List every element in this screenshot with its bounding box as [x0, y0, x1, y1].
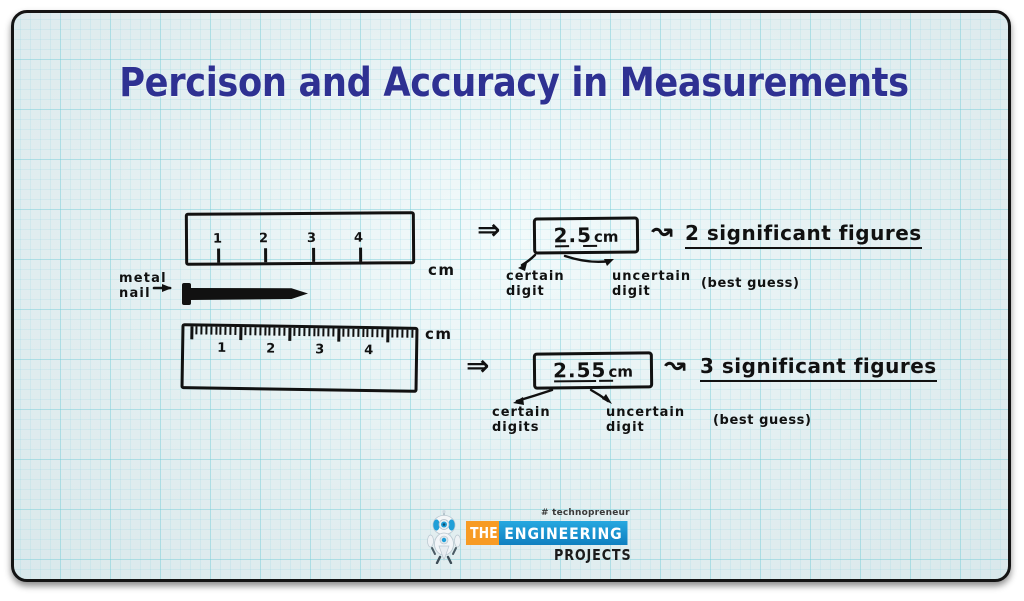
fine-ruler-tick [342, 329, 344, 337]
coarse-ruler: 1 2 3 4 [185, 211, 415, 266]
uncertain-digit-label-1: uncertain digit [612, 269, 691, 299]
metal-nail [182, 283, 312, 307]
coarse-label-3: 3 [307, 231, 316, 246]
certain-digit-underline-1 [555, 245, 569, 247]
fine-ruler-tick [190, 326, 193, 339]
measurement-1-text: 2.5cm [553, 222, 618, 247]
fine-label-1: 1 [217, 341, 226, 356]
fine-ruler-tick [362, 329, 364, 337]
fine-ruler-tick [225, 327, 227, 335]
fine-ruler-tick [259, 327, 261, 335]
coarse-tick-1 [217, 249, 220, 263]
fine-ruler-tick [230, 327, 232, 335]
fine-ruler-tick [367, 329, 369, 337]
uncertain-digit-underline-1 [583, 244, 597, 246]
fine-ruler-tick [396, 330, 398, 338]
measurement-2-text: 2.55cm [553, 357, 633, 382]
fine-ruler-ticks [184, 326, 415, 330]
uncertain-arrow-1-head [604, 259, 614, 266]
coarse-tick-4 [359, 248, 362, 262]
fine-ruler-tick [239, 327, 242, 340]
certain-arrow-2-line [517, 390, 552, 401]
slide-root: Percison and Accuracy in Measurements 1 … [0, 0, 1024, 601]
fine-ruler-tick [337, 329, 340, 342]
fine-ruler-tick [372, 329, 374, 337]
fine-ruler-tick [279, 328, 281, 336]
best-guess-label-1: (best guess) [701, 276, 800, 291]
fine-ruler-tick [244, 327, 246, 335]
fine-ruler-tick [220, 327, 222, 335]
result-text-1: 2 significant figures [685, 221, 922, 249]
logo-word-projects: PROJECTS [554, 546, 631, 564]
fine-ruler-tick [313, 328, 315, 336]
fine-ruler-tick [254, 327, 256, 335]
fine-ruler-tick [303, 328, 305, 336]
fine-ruler-tick [308, 328, 310, 336]
coarse-label-1: 1 [213, 232, 222, 247]
metal-nail-label: metal nail [119, 271, 167, 301]
measurement-box-2: 2.55cm [533, 351, 653, 389]
fine-ruler-tick [234, 327, 236, 335]
fine-ruler-tick [249, 327, 251, 335]
coarse-ruler-unit-label: cm [428, 261, 456, 279]
nail-shaft [190, 288, 308, 300]
fine-label-4: 4 [364, 343, 373, 358]
logo-wordmark: THE ENGINEERING [466, 521, 645, 545]
measurement-1-value: 2.5 [553, 222, 592, 246]
fine-ruler-tick [328, 328, 330, 336]
uncertain-arrow-2-line [591, 390, 608, 401]
measurement-2-value: 2.55 [553, 357, 607, 382]
fine-ruler-tick [401, 330, 403, 338]
squiggle-arrow-2-icon: ↝ [664, 350, 686, 380]
certain-digit-label-1: certain digit [506, 269, 565, 299]
certain-digits-label-2: certain digits [492, 405, 551, 435]
certain-arrow-1-line [522, 255, 535, 265]
uncertain-digit-underline-2 [599, 379, 613, 381]
fine-ruler-tick [288, 328, 291, 341]
measurement-box-1: 2.5cm [533, 216, 639, 254]
certain-arrow-2-head [513, 397, 524, 405]
fine-ruler-tick [318, 328, 320, 336]
fine-ruler-tick [274, 328, 276, 336]
fine-ruler-tick [264, 327, 266, 335]
slide-board: Percison and Accuracy in Measurements 1 … [11, 10, 1011, 582]
fine-ruler-tick [377, 329, 379, 337]
fine-ruler-tick [411, 330, 413, 338]
uncertain-arrow-2-head [602, 394, 612, 404]
fine-ruler-tick [381, 329, 383, 337]
fine-ruler-tick [293, 328, 295, 336]
fine-ruler-unit-label: cm [425, 325, 453, 343]
fine-ruler-tick [352, 329, 354, 337]
fine-ruler-tick [200, 326, 202, 334]
measurement-2-unit: cm [608, 362, 633, 380]
best-guess-label-2: (best guess) [713, 413, 812, 428]
fine-ruler-tick [205, 327, 207, 335]
fine-ruler-tick [215, 327, 217, 335]
fine-ruler-tick [195, 326, 197, 334]
fine-ruler-tick [386, 329, 389, 342]
coarse-tick-2 [264, 248, 267, 262]
fine-ruler-tick [332, 329, 334, 337]
fine-ruler-tick [406, 330, 408, 338]
fine-ruler-tick [323, 328, 325, 336]
implies-arrow-1-icon: ⇒ [477, 213, 500, 246]
brand-logo[interactable]: # technopreneur THE ENGINEERING PROJECTS [423, 508, 635, 566]
fine-ruler-tick [283, 328, 285, 336]
fine-ruler-tick [210, 327, 212, 335]
coarse-label-2: 2 [259, 231, 268, 246]
coarse-tick-3 [312, 248, 315, 262]
fine-ruler-tick [269, 328, 271, 336]
logo-word-engineering: ENGINEERING [499, 521, 628, 545]
uncertain-arrow-1-line [565, 256, 610, 262]
certain-digits-underline-2 [554, 379, 596, 381]
measurement-1-unit: cm [594, 227, 619, 245]
page-title: Percison and Accuracy in Measurements [74, 60, 954, 106]
fine-ruler: 1 2 3 4 [180, 323, 418, 393]
fine-label-2: 2 [266, 341, 275, 356]
fine-ruler-tick [391, 329, 393, 337]
fine-ruler-tick [357, 329, 359, 337]
fine-label-3: 3 [315, 342, 324, 357]
logo-tagline: # technopreneur [541, 508, 630, 518]
result-text-2: 3 significant figures [700, 354, 937, 382]
nail-head [182, 283, 191, 305]
fine-ruler-tick [298, 328, 300, 336]
uncertain-digit-label-2: uncertain digit [606, 405, 685, 435]
implies-arrow-2-icon: ⇒ [466, 349, 489, 382]
logo-word-the: THE [466, 521, 502, 545]
coarse-label-4: 4 [354, 231, 363, 246]
squiggle-arrow-1-icon: ↝ [651, 216, 673, 246]
fine-ruler-tick [347, 329, 349, 337]
robot-mascot-icon [423, 510, 465, 564]
